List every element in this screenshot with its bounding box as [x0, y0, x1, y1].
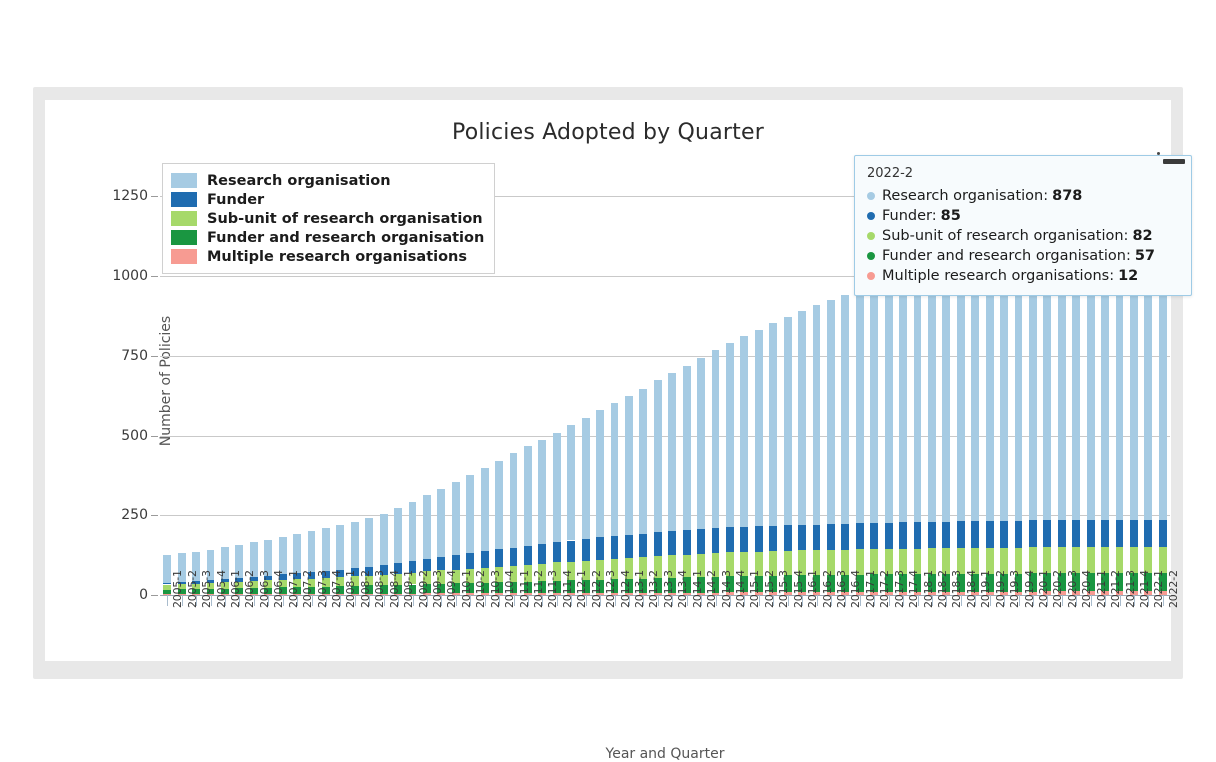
x-axis-tick-mark — [672, 595, 673, 606]
tooltip-label: Research organisation: — [882, 186, 1048, 206]
bar-segment[interactable] — [928, 272, 936, 522]
bar-column[interactable] — [784, 155, 792, 595]
bar-segment[interactable] — [856, 523, 864, 549]
bar-segment[interactable] — [654, 532, 662, 556]
x-axis-tick-mark — [874, 595, 875, 606]
bar-segment[interactable] — [553, 542, 561, 562]
x-axis-tick-mark — [427, 595, 428, 606]
x-axis-tick-mark — [297, 595, 298, 606]
x-axis-tick-mark — [1134, 595, 1135, 606]
bar-segment[interactable] — [163, 590, 171, 594]
bar-segment[interactable] — [1072, 520, 1080, 547]
tooltip-label: Multiple research organisations: — [882, 266, 1114, 286]
x-axis-tick-mark — [1033, 595, 1034, 606]
x-axis-tick-mark — [615, 595, 616, 606]
bar-column[interactable] — [524, 155, 532, 595]
bar-segment[interactable] — [466, 553, 474, 568]
bar-segment[interactable] — [510, 548, 518, 566]
x-axis-tick-mark — [441, 595, 442, 606]
bar-segment[interactable] — [899, 278, 907, 522]
bar-segment[interactable] — [899, 522, 907, 548]
bar-segment[interactable] — [1000, 257, 1008, 521]
x-axis-tick-mark — [340, 595, 341, 606]
x-axis-tick-mark — [918, 595, 919, 606]
x-axis-tick-mark — [1076, 595, 1077, 606]
x-axis-tick-mark — [1105, 595, 1106, 606]
bar-segment[interactable] — [986, 259, 994, 521]
legend-label: Sub-unit of research organisation — [207, 211, 483, 227]
bar-segment[interactable] — [726, 343, 734, 527]
bar-segment[interactable] — [986, 521, 994, 548]
bar-segment[interactable] — [625, 396, 633, 535]
bar-column[interactable] — [654, 155, 662, 595]
bar-segment[interactable] — [481, 468, 489, 552]
bar-segment[interactable] — [755, 526, 763, 551]
x-axis-tick-mark — [571, 595, 572, 606]
y-axis-tick-mark — [151, 436, 158, 437]
bar-segment[interactable] — [510, 453, 518, 547]
legend-item-1[interactable]: Funder — [171, 190, 484, 209]
bar-segment[interactable] — [740, 336, 748, 527]
bar-segment[interactable] — [914, 275, 922, 522]
bar-segment[interactable] — [1159, 520, 1167, 547]
legend-swatch — [171, 249, 197, 264]
bar-segment[interactable] — [437, 557, 445, 570]
y-axis-tick-mark — [151, 595, 158, 596]
bar-segment[interactable] — [452, 555, 460, 569]
x-axis-tick-mark — [817, 595, 818, 606]
x-axis-tick-mark — [586, 595, 587, 606]
x-axis-tick-mark — [456, 595, 457, 606]
x-axis-tick-mark — [514, 595, 515, 606]
bar-segment[interactable] — [322, 528, 330, 571]
y-axis-tick-mark — [151, 515, 158, 516]
x-axis-tick-mark — [845, 595, 846, 606]
tooltip-dot — [867, 252, 875, 260]
bar-segment[interactable] — [1159, 547, 1167, 573]
bar-segment[interactable] — [668, 531, 676, 555]
bar-segment[interactable] — [538, 440, 546, 544]
x-axis-tick-mark — [326, 595, 327, 606]
bar-segment[interactable] — [596, 537, 604, 559]
x-axis-tick-mark — [369, 595, 370, 606]
bar-segment[interactable] — [683, 530, 691, 554]
tooltip-dot — [867, 272, 875, 280]
bar-segment[interactable] — [1116, 520, 1124, 547]
bar-segment[interactable] — [495, 461, 503, 550]
tooltip-row-2: Sub-unit of research organisation:82 — [867, 226, 1179, 246]
x-axis-tick-mark — [312, 595, 313, 606]
x-axis-tick-mark — [744, 595, 745, 606]
bar-segment[interactable] — [538, 544, 546, 564]
x-axis-tick-mark — [254, 595, 255, 606]
tooltip-header: 2022-2 — [867, 166, 1179, 181]
x-axis-tick-mark — [773, 595, 774, 606]
bar-column[interactable] — [582, 155, 590, 595]
x-axis-tick-mark — [211, 595, 212, 606]
bar-segment[interactable] — [1058, 520, 1066, 547]
bar-segment[interactable] — [394, 508, 402, 563]
tooltip-label: Funder: — [882, 206, 937, 226]
bar-column[interactable] — [553, 155, 561, 595]
legend-swatch — [171, 173, 197, 188]
x-axis-tick-mark — [167, 595, 168, 606]
x-axis-tick-mark — [643, 595, 644, 606]
tooltip-row-3: Funder and research organisation:57 — [867, 246, 1179, 266]
bar-column[interactable] — [625, 155, 633, 595]
y-axis-tick-label: 500 — [28, 428, 148, 444]
x-axis-tick-label: 2022-2 — [1167, 570, 1180, 608]
bar-column[interactable] — [755, 155, 763, 595]
x-axis-tick-mark — [1163, 595, 1164, 606]
tooltip-row-4: Multiple research organisations:12 — [867, 266, 1179, 286]
y-axis-tick-mark — [151, 276, 158, 277]
y-axis-tick-label: 0 — [28, 587, 148, 603]
chart-title: Policies Adopted by Quarter — [45, 120, 1171, 145]
bar-segment[interactable] — [524, 546, 532, 565]
bar-segment[interactable] — [437, 489, 445, 558]
bar-segment[interactable] — [712, 350, 720, 528]
bar-segment[interactable] — [582, 539, 590, 561]
x-axis-tick-mark — [961, 595, 962, 606]
bar-segment[interactable] — [611, 403, 619, 536]
bar-segment[interactable] — [697, 529, 705, 554]
tooltip-dot — [867, 192, 875, 200]
hover-tooltip: 2022-2 Research organisation:878Funder:8… — [854, 155, 1192, 296]
tooltip-label: Funder and research organisation: — [882, 246, 1131, 266]
y-axis-tick-label: 1250 — [28, 188, 148, 204]
bar-segment[interactable] — [813, 525, 821, 551]
legend-label: Funder — [207, 192, 264, 208]
bar-column[interactable] — [841, 155, 849, 595]
bar-segment[interactable] — [1015, 521, 1023, 548]
legend-item-0[interactable]: Research organisation — [171, 171, 484, 190]
bar-segment[interactable] — [1144, 520, 1152, 547]
legend-label: Multiple research organisations — [207, 249, 467, 265]
bar-segment[interactable] — [1116, 547, 1124, 573]
x-axis-tick-mark — [499, 595, 500, 606]
bar-column[interactable] — [567, 155, 575, 595]
y-axis-tick-mark — [151, 196, 158, 197]
bar-segment[interactable] — [798, 311, 806, 525]
bar-segment[interactable] — [841, 295, 849, 524]
tooltip-grip — [1163, 159, 1185, 164]
bar-segment[interactable] — [885, 282, 893, 522]
x-axis-tick-mark — [802, 595, 803, 606]
bar-column[interactable] — [798, 155, 806, 595]
bar-segment[interactable] — [798, 525, 806, 551]
x-axis-tick-mark — [413, 595, 414, 606]
bar-segment[interactable] — [1000, 521, 1008, 548]
y-axis-tick-mark — [151, 356, 158, 357]
bar-segment[interactable] — [870, 523, 878, 549]
x-axis-tick-mark — [600, 595, 601, 606]
bar-segment[interactable] — [914, 522, 922, 548]
tooltip-value: 82 — [1132, 226, 1152, 246]
bar-segment[interactable] — [971, 262, 979, 521]
x-axis-tick-mark — [730, 595, 731, 606]
bar-segment[interactable] — [351, 522, 359, 568]
x-axis-tick-mark — [355, 595, 356, 606]
bar-column[interactable] — [769, 155, 777, 595]
legend-item-4[interactable]: Multiple research organisations — [171, 247, 484, 266]
bar-segment[interactable] — [466, 475, 474, 553]
bar-segment[interactable] — [957, 264, 965, 521]
x-axis-tick-mark — [889, 595, 890, 606]
bar-segment[interactable] — [308, 531, 316, 572]
bar-column[interactable] — [596, 155, 604, 595]
bar-segment[interactable] — [769, 323, 777, 526]
bar-segment[interactable] — [856, 291, 864, 524]
x-axis-tick-mark — [831, 595, 832, 606]
x-axis-tick-mark — [384, 595, 385, 606]
x-axis-tick-mark — [932, 595, 933, 606]
bar-segment[interactable] — [481, 551, 489, 567]
bar-segment[interactable] — [1043, 520, 1051, 547]
x-axis-tick-mark — [1019, 595, 1020, 606]
bar-column[interactable] — [538, 155, 546, 595]
bar-segment[interactable] — [163, 583, 171, 585]
x-axis-tick-mark — [860, 595, 861, 606]
bar-segment[interactable] — [1087, 520, 1095, 547]
bar-segment[interactable] — [1101, 520, 1109, 547]
bar-segment[interactable] — [611, 536, 619, 559]
bar-segment[interactable] — [813, 305, 821, 524]
bar-segment[interactable] — [1130, 520, 1138, 547]
bar-segment[interactable] — [567, 425, 575, 540]
bar-segment[interactable] — [582, 418, 590, 539]
bar-segment[interactable] — [942, 522, 950, 548]
bar-column[interactable] — [697, 155, 705, 595]
bar-column[interactable] — [813, 155, 821, 595]
bar-segment[interactable] — [654, 380, 662, 532]
bar-column[interactable] — [712, 155, 720, 595]
x-axis-tick-mark — [788, 595, 789, 606]
bar-segment[interactable] — [495, 549, 503, 566]
x-axis-tick-mark — [557, 595, 558, 606]
x-axis-tick-mark — [485, 595, 486, 606]
bar-segment[interactable] — [683, 366, 691, 531]
bar-segment[interactable] — [1101, 547, 1109, 573]
x-axis-tick-mark — [1091, 595, 1092, 606]
x-axis-tick-mark — [759, 595, 760, 606]
bar-segment[interactable] — [769, 526, 777, 552]
x-axis-tick-mark — [1047, 595, 1048, 606]
bar-segment[interactable] — [1029, 520, 1037, 547]
bar-segment[interactable] — [971, 521, 979, 548]
tooltip-row-1: Funder:85 — [867, 206, 1179, 226]
legend-swatch — [171, 211, 197, 226]
bar-column[interactable] — [495, 155, 503, 595]
x-axis-tick-mark — [658, 595, 659, 606]
bar-segment[interactable] — [293, 534, 301, 574]
tooltip-dot — [867, 212, 875, 220]
x-axis-tick-mark — [946, 595, 947, 606]
bar-segment[interactable] — [524, 446, 532, 545]
legend-item-2[interactable]: Sub-unit of research organisation — [171, 209, 484, 228]
legend-item-3[interactable]: Funder and research organisation — [171, 228, 484, 247]
x-axis-tick-mark — [701, 595, 702, 606]
bar-segment[interactable] — [365, 518, 373, 566]
tooltip-value: 57 — [1135, 246, 1155, 266]
tooltip-label: Sub-unit of research organisation: — [882, 226, 1128, 246]
bar-column[interactable] — [639, 155, 647, 595]
bar-segment[interactable] — [784, 525, 792, 551]
x-axis-tick-mark — [975, 595, 976, 606]
legend-label: Funder and research organisation — [207, 230, 484, 246]
bar-segment[interactable] — [942, 268, 950, 521]
x-axis-tick-mark — [470, 595, 471, 606]
legend-swatch — [171, 230, 197, 245]
bar-segment[interactable] — [1058, 547, 1066, 573]
x-axis-tick-mark — [542, 595, 543, 606]
x-axis-tick-mark — [196, 595, 197, 606]
x-axis-tick-mark — [1062, 595, 1063, 606]
tooltip-row-0: Research organisation:878 — [867, 186, 1179, 206]
x-axis-tick-mark — [629, 595, 630, 606]
bar-column[interactable] — [668, 155, 676, 595]
chart-card: Policies Adopted by Quarter Number of Po… — [33, 87, 1183, 679]
bar-segment[interactable] — [827, 524, 835, 550]
bar-segment[interactable] — [928, 522, 936, 548]
bar-segment[interactable] — [625, 535, 633, 558]
x-axis-tick-mark — [182, 595, 183, 606]
bar-segment[interactable] — [726, 527, 734, 552]
x-axis-tick-mark — [990, 595, 991, 606]
x-axis-tick-mark — [687, 595, 688, 606]
bar-segment[interactable] — [827, 300, 835, 524]
bar-segment[interactable] — [553, 433, 561, 542]
x-axis-tick-mark — [1004, 595, 1005, 606]
bar-segment[interactable] — [279, 537, 287, 575]
bar-column[interactable] — [827, 155, 835, 595]
bar-segment[interactable] — [957, 521, 965, 548]
bar-segment[interactable] — [784, 317, 792, 526]
bar-segment[interactable] — [596, 410, 604, 537]
bar-segment[interactable] — [409, 502, 417, 561]
bar-segment[interactable] — [639, 534, 647, 557]
tooltip-rows: Research organisation:878Funder:85Sub-un… — [867, 186, 1179, 286]
plot-container: Policies Adopted by Quarter Number of Po… — [45, 100, 1171, 661]
tooltip-dot — [867, 232, 875, 240]
bar-segment[interactable] — [1043, 547, 1051, 573]
bar-segment[interactable] — [163, 555, 171, 582]
bar-segment[interactable] — [697, 358, 705, 529]
bar-segment[interactable] — [639, 389, 647, 534]
bar-column[interactable] — [611, 155, 619, 595]
x-axis-tick-mark — [268, 595, 269, 606]
x-axis-tick-mark — [1120, 595, 1121, 606]
bar-segment[interactable] — [336, 525, 344, 570]
bar-segment[interactable] — [740, 527, 748, 552]
bar-segment[interactable] — [423, 495, 431, 559]
bar-segment[interactable] — [163, 585, 171, 590]
legend-label: Research organisation — [207, 173, 391, 189]
x-axis-tick-mark — [716, 595, 717, 606]
bar-segment[interactable] — [885, 523, 893, 549]
x-axis-tick-mark — [903, 595, 904, 606]
bar-segment[interactable] — [870, 286, 878, 523]
y-axis-tick-label: 250 — [28, 507, 148, 523]
x-axis-tick-mark — [225, 595, 226, 606]
y-axis-tick-label: 1000 — [28, 268, 148, 284]
bar-column[interactable] — [683, 155, 691, 595]
y-axis-tick-label: 750 — [28, 348, 148, 364]
x-axis-tick-mark — [283, 595, 284, 606]
x-axis-title: Year and Quarter — [160, 746, 1170, 762]
bar-segment[interactable] — [712, 528, 720, 553]
x-axis-tick-mark — [528, 595, 529, 606]
bar-segment[interactable] — [567, 541, 575, 562]
tooltip-value: 12 — [1118, 266, 1138, 286]
bar-segment[interactable] — [841, 524, 849, 550]
bar-segment[interactable] — [668, 373, 676, 531]
x-axis-tick-mark — [1148, 595, 1149, 606]
x-axis-tick-mark — [239, 595, 240, 606]
bar-column[interactable] — [740, 155, 748, 595]
bar-column[interactable] — [726, 155, 734, 595]
bar-segment[interactable] — [755, 330, 763, 527]
tooltip-value: 85 — [941, 206, 961, 226]
bar-segment[interactable] — [380, 514, 388, 565]
legend-swatch — [171, 192, 197, 207]
tooltip-value: 878 — [1052, 186, 1082, 206]
bar-column[interactable] — [510, 155, 518, 595]
chart-legend[interactable]: Research organisationFunderSub-unit of r… — [162, 163, 495, 274]
x-axis-tick-mark — [398, 595, 399, 606]
bar-segment[interactable] — [452, 482, 460, 555]
